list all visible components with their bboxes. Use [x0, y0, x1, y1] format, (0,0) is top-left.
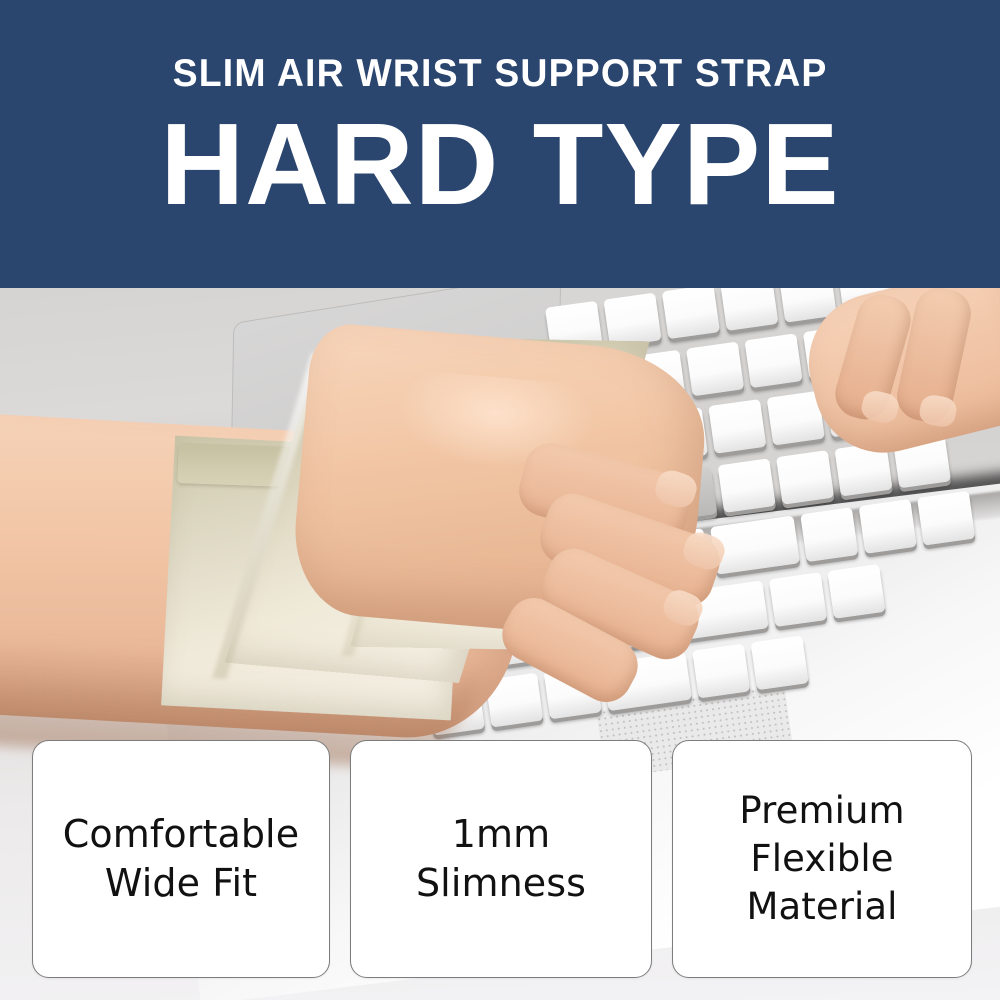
feature-card-label: 1mm Slimness [406, 810, 596, 908]
keyboard-key [859, 499, 917, 554]
keyboard-key [603, 293, 661, 348]
product-infographic: SLIM AIR WRIST SUPPORT STRAP HARD TYPE [0, 0, 1000, 1000]
keyboard-key [776, 450, 834, 505]
keyboard-key [720, 288, 778, 331]
keyboard-key [744, 333, 802, 388]
keyboard-key [718, 458, 776, 513]
keyboard-key [800, 507, 858, 562]
keyboard-key [827, 564, 885, 619]
feature-card-comfortable-wide-fit[interactable]: Comfortable Wide Fit [32, 740, 330, 978]
header-banner: SLIM AIR WRIST SUPPORT STRAP HARD TYPE [0, 0, 1000, 288]
keyboard-key [686, 342, 744, 397]
product-subtitle: SLIM AIR WRIST SUPPORT STRAP [173, 54, 828, 94]
feature-card-premium-flexible-material[interactable]: Premium Flexible Material [672, 740, 972, 978]
keyboard-key [917, 491, 975, 546]
keyboard-key [708, 399, 766, 454]
header-text-block: SLIM AIR WRIST SUPPORT STRAP HARD TYPE [0, 0, 1000, 220]
keyboard-key [692, 644, 750, 699]
feature-card-label: Comfortable Wide Fit [53, 810, 309, 908]
product-headline: HARD TYPE [160, 108, 839, 220]
keyboard-key [751, 635, 809, 690]
feature-card-1mm-slimness[interactable]: 1mm Slimness [350, 740, 652, 978]
keyboard-key [769, 572, 827, 627]
keyboard-key [662, 288, 720, 339]
feature-card-label: Premium Flexible Material [729, 787, 914, 931]
